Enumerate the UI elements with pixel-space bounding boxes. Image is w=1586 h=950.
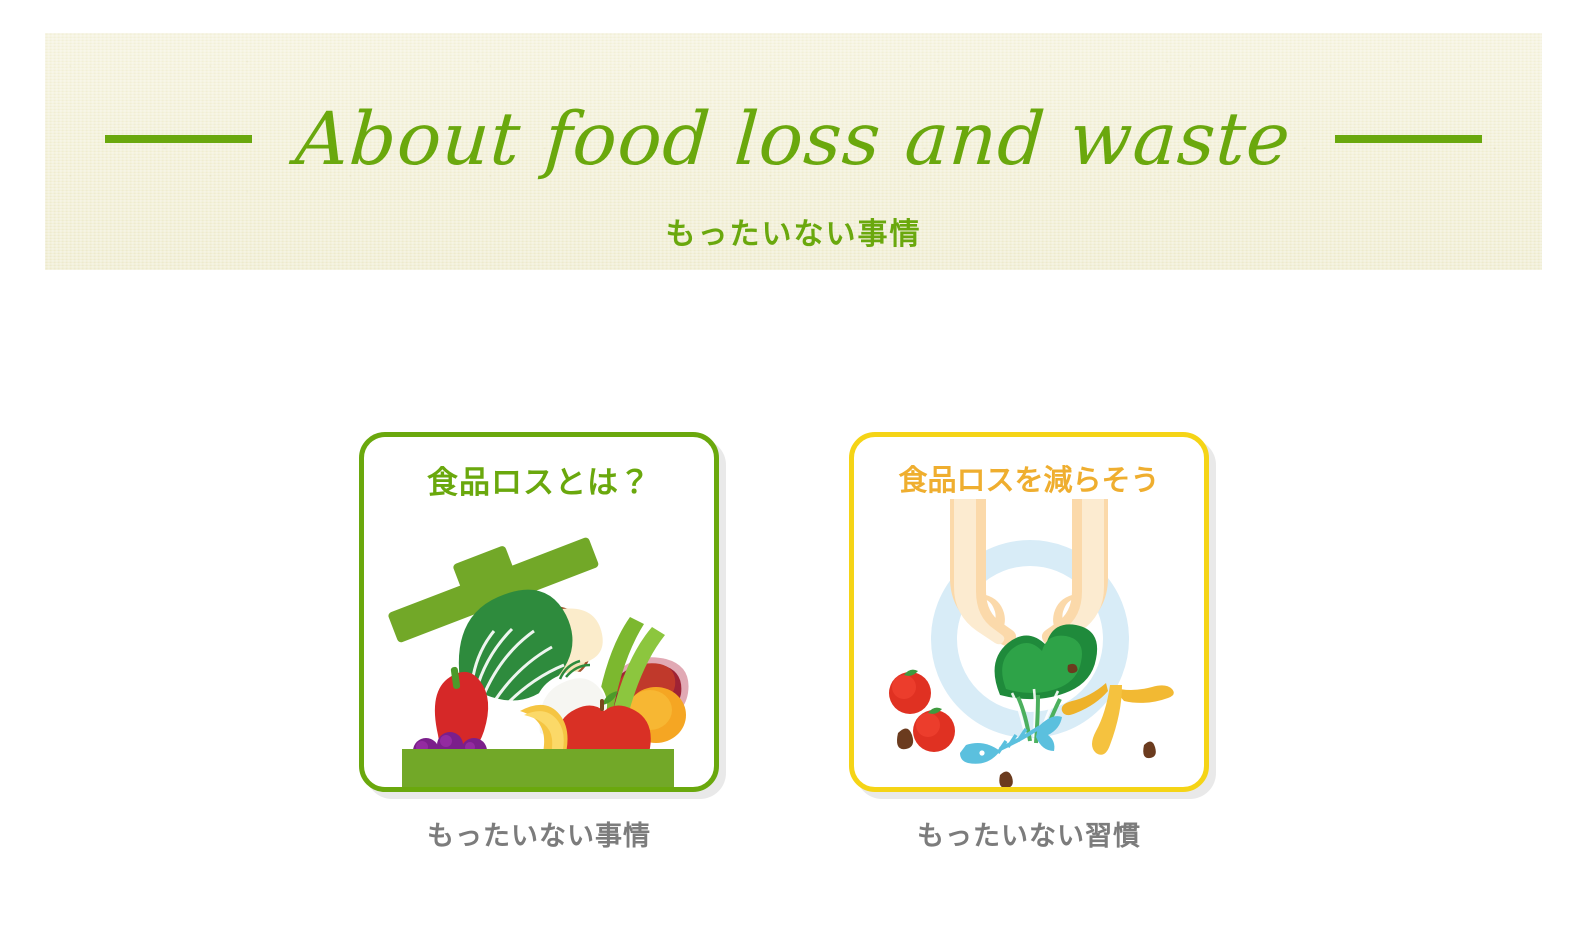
card-caption-food-loss-definition: もったいない事情: [359, 814, 719, 853]
card-food-loss-definition[interactable]: 食品ロスとは？: [359, 432, 719, 792]
card-block-reduce-food-loss: 食品ロスを減らそう: [849, 432, 1209, 792]
page-subtitle: もったいない事情: [45, 209, 1542, 253]
page-title: About food loss and waste: [294, 103, 1294, 176]
card-grid: 食品ロスとは？: [359, 432, 1203, 852]
card-block-food-loss-definition: 食品ロスとは？: [359, 432, 719, 792]
card-reduce-food-loss[interactable]: 食品ロスを減らそう: [849, 432, 1209, 792]
right-rule-decoration: [1335, 135, 1482, 143]
card-caption-reduce-food-loss: もったいない習慣: [849, 814, 1209, 853]
banner-title-row: About food loss and waste: [45, 89, 1542, 189]
card-heading-reduce-food-loss: 食品ロスを減らそう: [854, 457, 1204, 499]
page-root: About food loss and waste もったいない事情 食品ロスと…: [0, 0, 1586, 950]
card-heading-food-loss-definition: 食品ロスとは？: [364, 457, 714, 502]
header-banner: About food loss and waste もったいない事情: [45, 33, 1542, 270]
hands-plate-illustration: [854, 499, 1204, 789]
left-rule-decoration: [105, 135, 252, 143]
trash-bin-illustration: [364, 499, 714, 789]
